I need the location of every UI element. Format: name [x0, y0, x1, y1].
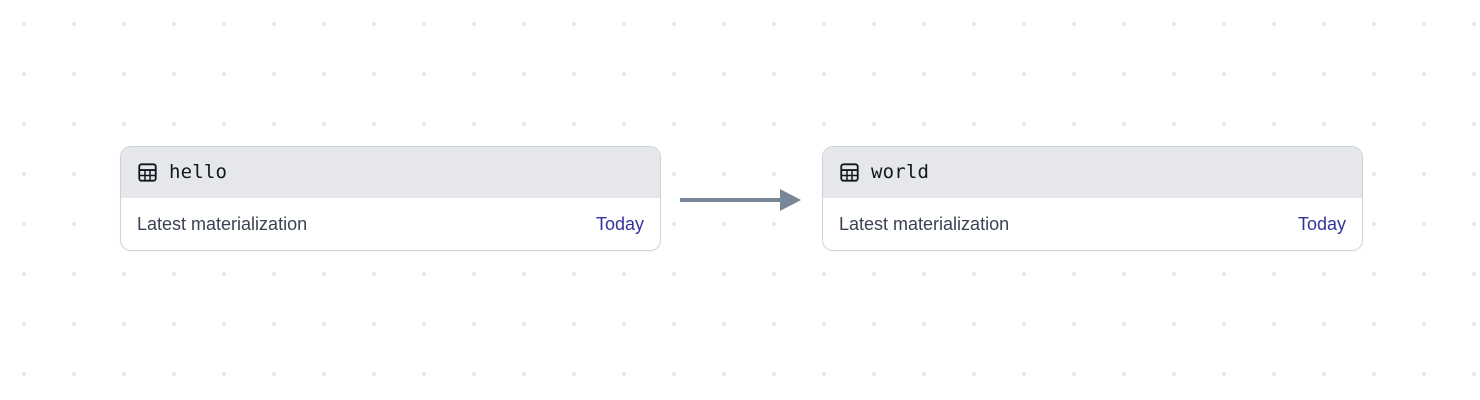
asset-node-hello[interactable]: hello Latest materialization Today — [120, 146, 661, 251]
table-icon — [137, 162, 158, 183]
asset-node-world[interactable]: world Latest materialization Today — [822, 146, 1363, 251]
edge-hello-to-world — [680, 189, 801, 211]
latest-materialization-label: Latest materialization — [137, 213, 307, 235]
asset-node-body: Latest materialization Today — [121, 198, 660, 249]
asset-node-header[interactable]: hello — [121, 147, 660, 198]
asset-node-title: world — [871, 162, 929, 183]
asset-node-body: Latest materialization Today — [823, 198, 1362, 249]
arrow-right-icon — [780, 189, 801, 211]
latest-materialization-value[interactable]: Today — [596, 213, 644, 235]
asset-node-title: hello — [169, 162, 227, 183]
latest-materialization-value[interactable]: Today — [1298, 213, 1346, 235]
latest-materialization-label: Latest materialization — [839, 213, 1009, 235]
table-icon — [839, 162, 860, 183]
asset-graph-canvas[interactable]: hello Latest materialization Today world… — [0, 0, 1480, 400]
asset-node-header[interactable]: world — [823, 147, 1362, 198]
